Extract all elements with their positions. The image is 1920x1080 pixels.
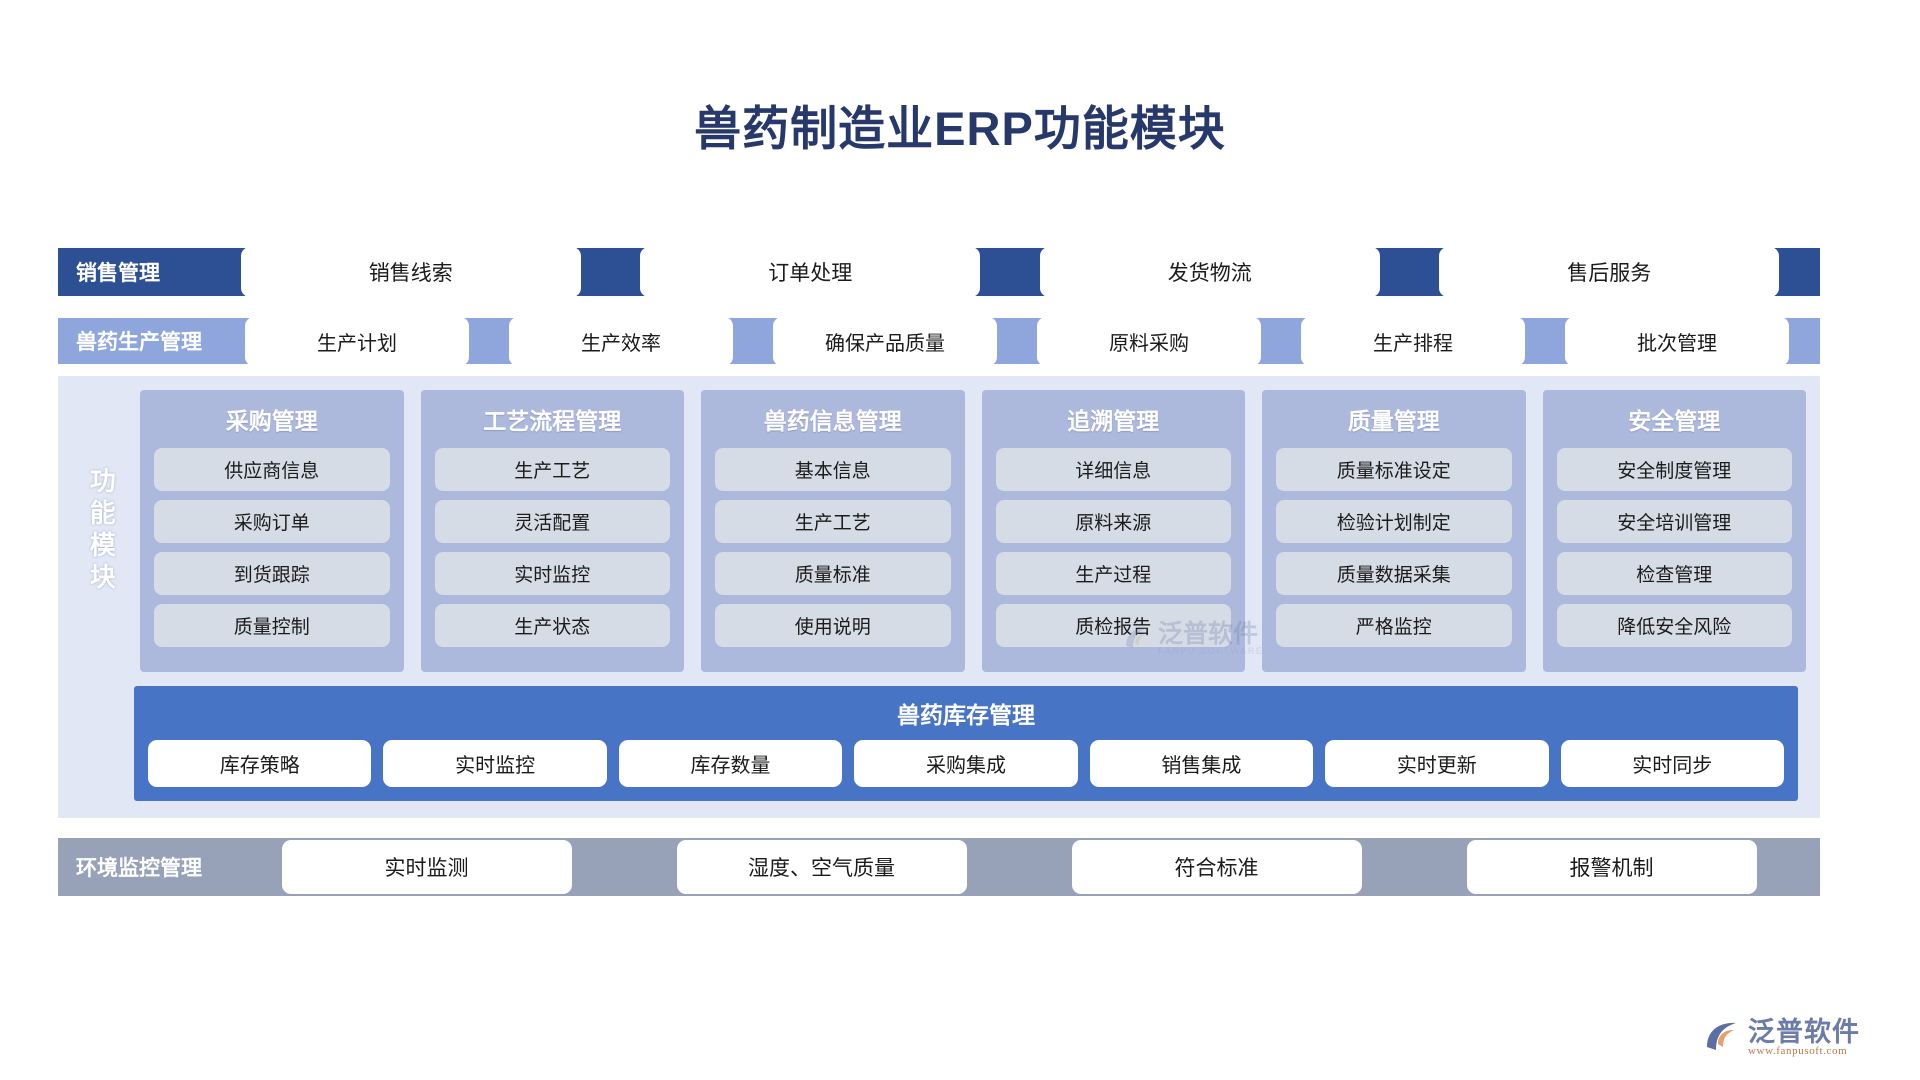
module-column-process-flow[interactable]: 工艺流程管理 生产工艺 灵活配置 实时监控 生产状态 <box>421 390 685 672</box>
brand-logo: 泛普软件 www.fanpusoft.com <box>1702 1018 1860 1058</box>
inventory-item-realtime-monitor[interactable]: 实时监控 <box>383 740 606 787</box>
module-item[interactable]: 基本信息 <box>715 448 951 491</box>
inventory-item-purchase-integration[interactable]: 采购集成 <box>854 740 1077 787</box>
module-item[interactable]: 生产过程 <box>996 552 1232 595</box>
module-item[interactable]: 降低安全风险 <box>1557 604 1793 647</box>
page-title: 兽药制造业ERP功能模块 <box>0 90 1920 159</box>
function-modules-top: 功能模块 采购管理 供应商信息 采购订单 到货跟踪 质量控制 工艺流程管理 <box>58 376 1820 672</box>
brand-name: 泛普软件 <box>1748 1018 1860 1046</box>
module-item[interactable]: 实时监控 <box>435 552 671 595</box>
module-item[interactable]: 到货跟踪 <box>154 552 390 595</box>
module-item[interactable]: 生产状态 <box>435 604 671 647</box>
module-item[interactable]: 使用说明 <box>715 604 951 647</box>
module-column-title: 追溯管理 <box>996 402 1232 436</box>
module-column-items: 供应商信息 采购订单 到货跟踪 质量控制 <box>154 448 390 647</box>
module-item[interactable]: 安全培训管理 <box>1557 500 1793 543</box>
function-modules-label: 功能模块 <box>72 390 130 672</box>
module-column-quality[interactable]: 质量管理 质量标准设定 检验计划制定 质量数据采集 严格监控 <box>1262 390 1526 672</box>
production-item-scheduling[interactable]: 生产排程 <box>1301 317 1525 366</box>
module-item[interactable]: 质检报告 <box>996 604 1232 647</box>
function-modules-columns: 采购管理 供应商信息 采购订单 到货跟踪 质量控制 工艺流程管理 生产工艺 灵活… <box>130 390 1806 672</box>
production-management-label: 兽药生产管理 <box>76 326 226 356</box>
production-item-plan[interactable]: 生产计划 <box>245 317 469 366</box>
inventory-item-strategy[interactable]: 库存策略 <box>148 740 371 787</box>
module-item[interactable]: 质量数据采集 <box>1276 552 1512 595</box>
module-item[interactable]: 灵活配置 <box>435 500 671 543</box>
inventory-item-quantity[interactable]: 库存数量 <box>619 740 842 787</box>
environment-item-realtime-detection[interactable]: 实时监测 <box>282 840 572 894</box>
module-column-title: 兽药信息管理 <box>715 402 951 436</box>
fanpu-logo-icon <box>1702 1019 1740 1057</box>
module-column-items: 详细信息 原料来源 生产过程 质检报告 <box>996 448 1232 647</box>
environment-item-humidity-air[interactable]: 湿度、空气质量 <box>677 840 967 894</box>
environment-monitoring-items: 实时监测 湿度、空气质量 符合标准 报警机制 <box>236 840 1802 894</box>
production-item-efficiency[interactable]: 生产效率 <box>509 317 733 366</box>
module-item[interactable]: 安全制度管理 <box>1557 448 1793 491</box>
module-item[interactable]: 检查管理 <box>1557 552 1793 595</box>
environment-monitoring-band: 环境监控管理 实时监测 湿度、空气质量 符合标准 报警机制 <box>58 838 1820 896</box>
inventory-management-band: 兽药库存管理 库存策略 实时监控 库存数量 采购集成 销售集成 实时更新 实时同… <box>134 686 1798 801</box>
inventory-management-items: 库存策略 实时监控 库存数量 采购集成 销售集成 实时更新 实时同步 <box>148 740 1784 787</box>
production-management-band: 兽药生产管理 生产计划 生产效率 确保产品质量 原料采购 生产排程 批次管理 <box>58 318 1820 364</box>
sales-item-shipping[interactable]: 发货物流 <box>1040 247 1380 297</box>
sales-management-band: 销售管理 销售线索 订单处理 发货物流 售后服务 <box>58 248 1820 296</box>
brand-text: 泛普软件 www.fanpusoft.com <box>1748 1018 1860 1058</box>
module-item[interactable]: 原料来源 <box>996 500 1232 543</box>
sales-item-order[interactable]: 订单处理 <box>640 247 980 297</box>
module-column-title: 安全管理 <box>1557 402 1793 436</box>
sales-management-items: 销售线索 订单处理 发货物流 售后服务 <box>218 247 1802 297</box>
infographic-canvas: 兽药制造业ERP功能模块 销售管理 销售线索 订单处理 发货物流 售后服务 兽药… <box>0 0 1920 1080</box>
inventory-management-title: 兽药库存管理 <box>148 696 1784 730</box>
module-column-items: 生产工艺 灵活配置 实时监控 生产状态 <box>435 448 671 647</box>
brand-url: www.fanpusoft.com <box>1748 1046 1860 1058</box>
module-item[interactable]: 生产工艺 <box>435 448 671 491</box>
sales-item-lead[interactable]: 销售线索 <box>241 247 581 297</box>
production-management-items: 生产计划 生产效率 确保产品质量 原料采购 生产排程 批次管理 <box>232 317 1802 366</box>
module-item[interactable]: 质量标准设定 <box>1276 448 1512 491</box>
module-column-title: 采购管理 <box>154 402 390 436</box>
module-item[interactable]: 质量标准 <box>715 552 951 595</box>
module-column-items: 基本信息 生产工艺 质量标准 使用说明 <box>715 448 951 647</box>
inventory-item-sales-integration[interactable]: 销售集成 <box>1090 740 1313 787</box>
module-column-drug-info[interactable]: 兽药信息管理 基本信息 生产工艺 质量标准 使用说明 <box>701 390 965 672</box>
module-column-safety[interactable]: 安全管理 安全制度管理 安全培训管理 检查管理 降低安全风险 <box>1543 390 1807 672</box>
function-modules-panel: 功能模块 采购管理 供应商信息 采购订单 到货跟踪 质量控制 工艺流程管理 <box>58 376 1820 818</box>
production-item-batch[interactable]: 批次管理 <box>1565 317 1789 366</box>
module-column-procurement[interactable]: 采购管理 供应商信息 采购订单 到货跟踪 质量控制 <box>140 390 404 672</box>
environment-item-standards[interactable]: 符合标准 <box>1072 840 1362 894</box>
module-item[interactable]: 详细信息 <box>996 448 1232 491</box>
module-column-items: 安全制度管理 安全培训管理 检查管理 降低安全风险 <box>1557 448 1793 647</box>
module-item[interactable]: 严格监控 <box>1276 604 1512 647</box>
sales-item-aftersale[interactable]: 售后服务 <box>1439 247 1779 297</box>
module-item[interactable]: 采购订单 <box>154 500 390 543</box>
production-item-quality[interactable]: 确保产品质量 <box>773 317 997 366</box>
module-column-title: 质量管理 <box>1276 402 1512 436</box>
module-column-title: 工艺流程管理 <box>435 402 671 436</box>
inventory-item-realtime-sync[interactable]: 实时同步 <box>1561 740 1784 787</box>
module-item[interactable]: 质量控制 <box>154 604 390 647</box>
module-column-traceability[interactable]: 追溯管理 详细信息 原料来源 生产过程 质检报告 <box>982 390 1246 672</box>
module-item[interactable]: 供应商信息 <box>154 448 390 491</box>
environment-item-alarm[interactable]: 报警机制 <box>1467 840 1757 894</box>
module-item[interactable]: 生产工艺 <box>715 500 951 543</box>
production-item-material[interactable]: 原料采购 <box>1037 317 1261 366</box>
sales-management-label: 销售管理 <box>76 257 208 287</box>
inventory-item-realtime-update[interactable]: 实时更新 <box>1325 740 1548 787</box>
module-item[interactable]: 检验计划制定 <box>1276 500 1512 543</box>
module-column-items: 质量标准设定 检验计划制定 质量数据采集 严格监控 <box>1276 448 1512 647</box>
environment-monitoring-label: 环境监控管理 <box>76 852 228 882</box>
